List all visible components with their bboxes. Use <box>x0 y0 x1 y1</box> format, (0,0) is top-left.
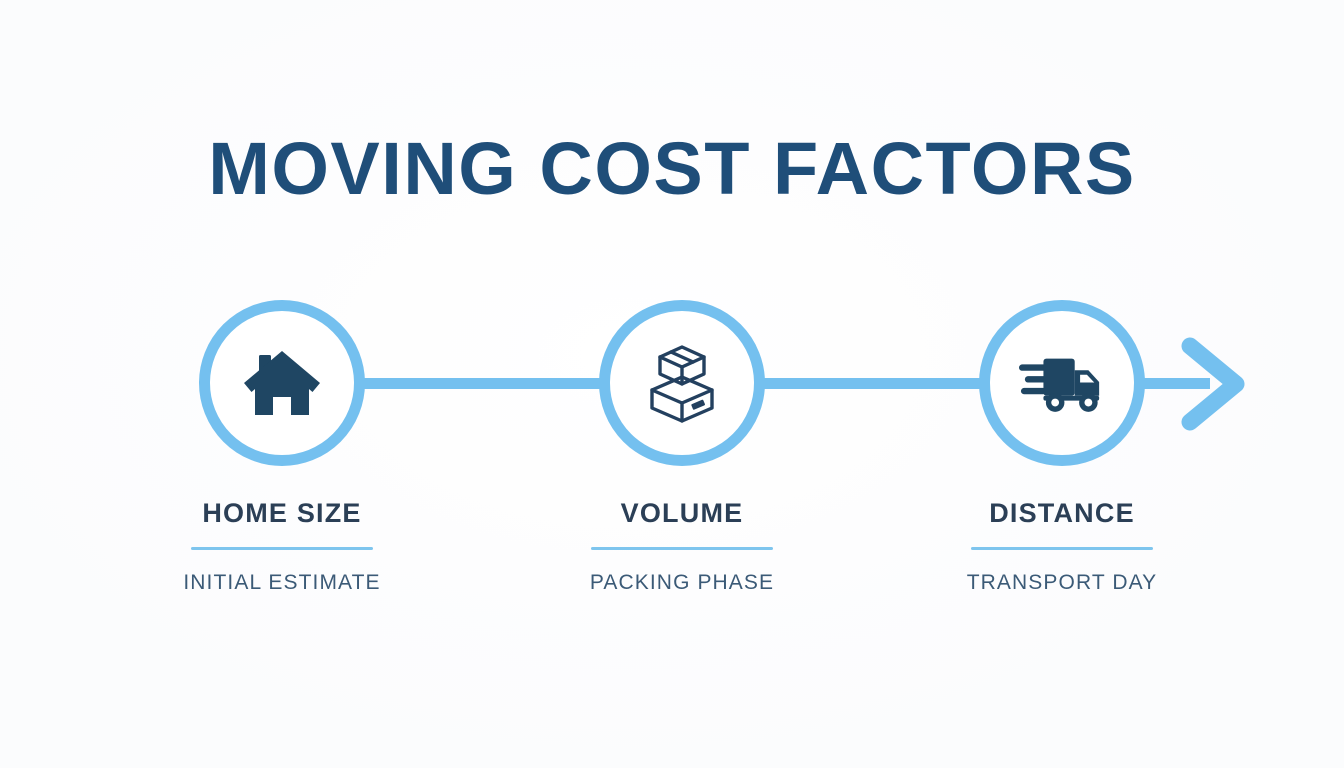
step-circle-3[interactable] <box>979 300 1145 466</box>
step-label-1: HOME SIZE <box>152 498 412 529</box>
step-divider-3 <box>971 547 1153 550</box>
stacked-boxes-icon <box>639 340 725 426</box>
step-label-2: VOLUME <box>552 498 812 529</box>
step-divider-1 <box>191 547 373 550</box>
flow-step-home-size[interactable]: HOME SIZE INITIAL ESTIMATE <box>152 300 412 595</box>
step-circle-1[interactable] <box>199 300 365 466</box>
delivery-truck-icon <box>1019 340 1105 426</box>
house-icon <box>239 340 325 426</box>
process-flow: HOME SIZE INITIAL ESTIMATE <box>0 0 1344 768</box>
flow-step-distance[interactable]: DISTANCE TRANSPORT DAY <box>932 300 1192 595</box>
infographic-canvas: MOVING COST FACTORS <box>0 0 1344 768</box>
flow-step-volume[interactable]: VOLUME PACKING PHASE <box>552 300 812 595</box>
step-circle-2[interactable] <box>599 300 765 466</box>
step-sublabel-3: TRANSPORT DAY <box>932 571 1192 595</box>
step-divider-2 <box>591 547 773 550</box>
step-sublabel-2: PACKING PHASE <box>552 571 812 595</box>
step-sublabel-1: INITIAL ESTIMATE <box>152 571 412 595</box>
step-label-3: DISTANCE <box>932 498 1192 529</box>
